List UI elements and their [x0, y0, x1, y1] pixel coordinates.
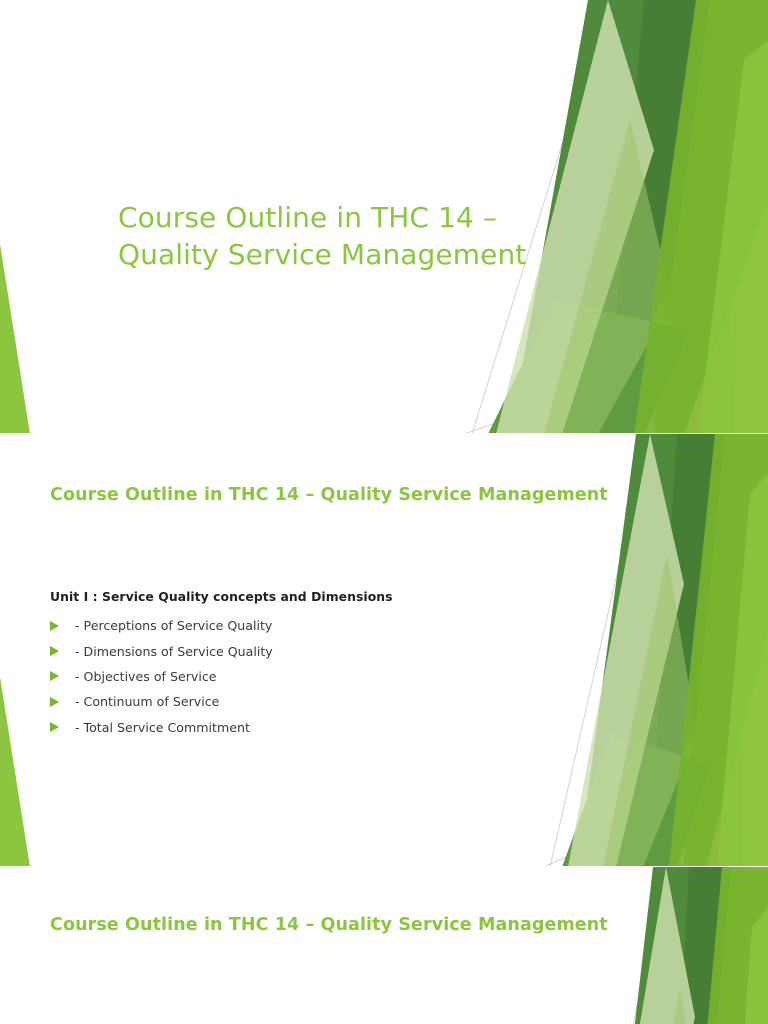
deco-shape-bright-edge	[722, 0, 768, 434]
list-item: - Objectives of Service	[50, 664, 470, 689]
play-triangle-icon	[50, 621, 59, 631]
list-item-label: - Total Service Commitment	[75, 720, 250, 735]
deco-left-triangle	[0, 677, 30, 867]
play-triangle-icon	[50, 671, 59, 681]
unit-title: Unit I : Service Quality concepts and Di…	[50, 589, 470, 604]
deco-shape-dark-wedge	[603, 867, 731, 1024]
document-page: Course Outline in THC 14 – Quality Servi…	[0, 0, 768, 1024]
deco-left-triangle-svg	[0, 677, 36, 867]
deco-shape-dark-wedge-inner	[666, 867, 731, 1024]
slide-content-unit-1: Course Outline in THC 14 – Quality Servi…	[0, 434, 768, 867]
deco-shape-bright-right	[695, 867, 768, 1024]
deco-shape-bright-edge	[734, 434, 768, 867]
bullet-list: - Perceptions of Service Quality - Dimen…	[50, 613, 470, 740]
list-item-label: - Objectives of Service	[75, 669, 217, 684]
title-block: Course Outline in THC 14 – Quality Servi…	[118, 181, 573, 292]
slide-heading: Course Outline in THC 14 – Quality Servi…	[50, 485, 608, 505]
deco-shape-bright-slash-2	[698, 40, 768, 434]
deco-shape-mid-wedge	[488, 300, 690, 434]
deco-shape-mid-wedge	[562, 734, 711, 867]
play-triangle-icon	[50, 646, 59, 656]
slide-title: Course Outline in THC 14 – Quality Servi…	[0, 0, 768, 434]
hairline-1	[579, 889, 660, 1024]
deco-shape-bright-slash-2	[717, 474, 768, 867]
deco-shape-bright-slash-2	[724, 907, 768, 1024]
content-body: Unit I : Service Quality concepts and Di…	[50, 589, 470, 740]
decorative-graphic-right	[570, 867, 768, 1024]
list-item: - Dimensions of Service Quality	[50, 638, 470, 663]
list-item-label: - Perceptions of Service Quality	[75, 618, 272, 633]
deco-shape-bright-slash	[634, 0, 768, 434]
decorative-graphic-left	[0, 677, 36, 867]
deco-shape-soft-overlay	[603, 554, 697, 867]
slide-content-partial: Course Outline in THC 14 – Quality Servi…	[0, 867, 768, 1024]
deco-left-triangle-svg	[0, 244, 36, 434]
decorative-graphic-left	[0, 244, 36, 434]
list-item: - Perceptions of Service Quality	[50, 613, 470, 638]
deco-left-triangle	[0, 244, 30, 434]
deco-shape-pale-overlay	[594, 867, 695, 1024]
list-item-label: - Dimensions of Service Quality	[75, 644, 273, 659]
page-title: Course Outline in THC 14 – Quality Servi…	[118, 200, 573, 274]
hairline-2	[464, 330, 768, 434]
list-item-label: - Continuum of Service	[75, 694, 219, 709]
deco-shape-bright-right	[654, 0, 768, 434]
deco-shape-bright-slash	[669, 434, 768, 867]
deco-shape-dark-wedge-inner	[650, 434, 725, 838]
deco-shape-bright-right	[684, 434, 768, 867]
play-triangle-icon	[50, 697, 59, 707]
list-item: - Total Service Commitment	[50, 715, 470, 740]
deco-shape-dark-wedge-inner	[608, 0, 710, 404]
deco-shape-soft-overlay	[625, 987, 706, 1024]
list-item: - Continuum of Service	[50, 689, 470, 714]
play-triangle-icon	[50, 722, 59, 732]
deco-shape-bright-edge	[738, 867, 768, 1024]
hairline-2	[544, 764, 768, 867]
hairline-1	[550, 456, 644, 867]
deco-shape-bright-slash	[682, 867, 768, 1024]
slide-heading: Course Outline in THC 14 – Quality Servi…	[50, 915, 608, 935]
deco-polygons-svg	[570, 867, 768, 1024]
